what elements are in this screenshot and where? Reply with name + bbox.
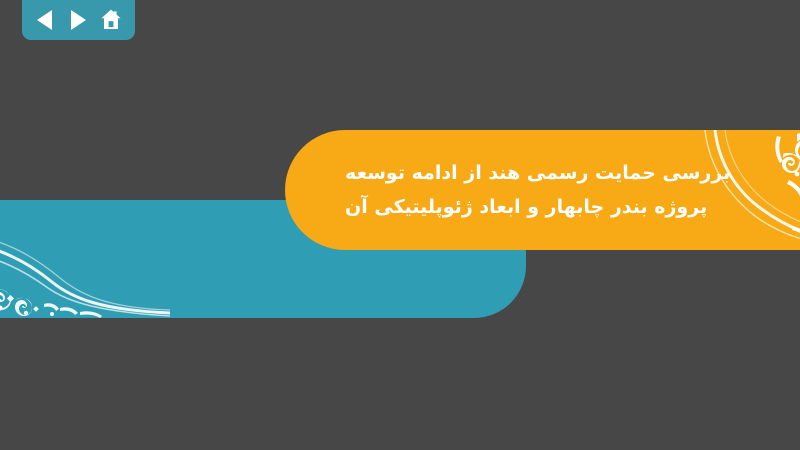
- home-button[interactable]: [96, 5, 126, 35]
- title-line-1: بررسی حمایت رسمی هند از ادامه توسعه: [345, 156, 730, 190]
- home-icon: [99, 8, 123, 32]
- triangle-left-icon: [35, 9, 55, 31]
- next-slide-button[interactable]: [63, 5, 93, 35]
- triangle-right-icon: [68, 9, 88, 31]
- orange-title-banner: بررسی حمایت رسمی هند از ادامه توسعه پروژ…: [285, 130, 800, 250]
- arabesque-ornament-teal: [0, 200, 170, 318]
- slide-navigation-bar: [22, 0, 135, 40]
- slide-canvas: بررسی حمایت رسمی هند از ادامه توسعه پروژ…: [0, 0, 800, 450]
- previous-slide-button[interactable]: [30, 5, 60, 35]
- slide-title: بررسی حمایت رسمی هند از ادامه توسعه پروژ…: [345, 130, 725, 250]
- title-line-2: پروژه بندر چابهار و ابعاد ژئوپلیتیکی آن: [345, 190, 707, 224]
